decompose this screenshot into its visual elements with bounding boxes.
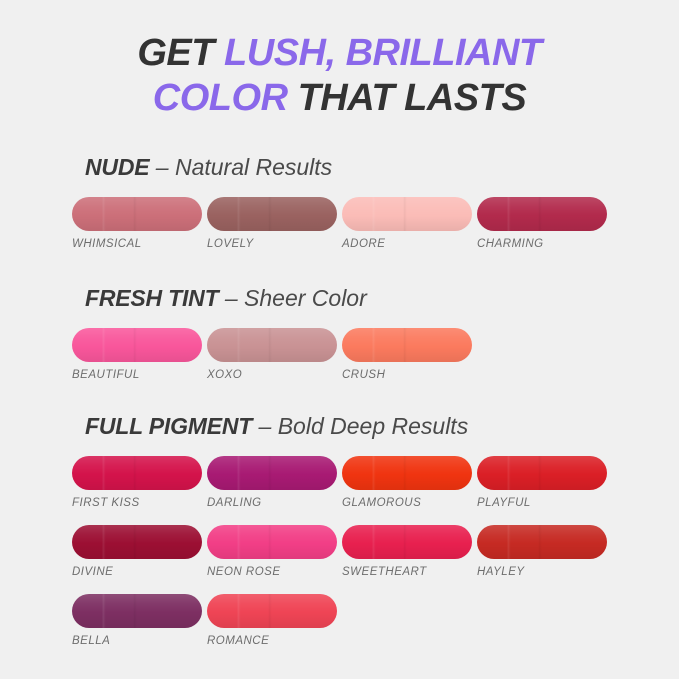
- section-full-pigment-separator: –: [252, 413, 278, 439]
- swatch-color-bar[interactable]: [477, 525, 607, 559]
- swatch-label: ROMANCE: [207, 635, 337, 648]
- headline-line-2: COLOR THAT LASTS: [0, 76, 679, 121]
- swatch-whimsical[interactable]: WHIMSICAL: [72, 197, 202, 251]
- swatch-beautiful[interactable]: BEAUTIFUL: [72, 328, 202, 382]
- section-nude-heading: NUDE – Natural Results: [0, 154, 679, 180]
- swatch-playful[interactable]: PLAYFUL: [477, 456, 607, 510]
- swatch-color-bar[interactable]: [342, 197, 472, 231]
- swatch-color-bar[interactable]: [72, 328, 202, 362]
- section-full-pigment: FULL PIGMENT – Bold Deep Results FIRST K…: [0, 413, 679, 648]
- section-full-pigment-title: FULL PIGMENT: [85, 413, 252, 439]
- swatch-darling[interactable]: DARLING: [207, 456, 337, 510]
- swatch-color-bar[interactable]: [72, 594, 202, 628]
- swatch-xoxo[interactable]: XOXO: [207, 328, 337, 382]
- swatch-label: ADORE: [342, 238, 472, 251]
- swatch-label: HAYLEY: [477, 566, 607, 579]
- section-fresh-tint-separator: –: [218, 285, 244, 311]
- swatch-color-bar[interactable]: [477, 456, 607, 490]
- section-fresh-tint-heading: FRESH TINT – Sheer Color: [0, 285, 679, 311]
- section-nude-subtitle: Natural Results: [175, 154, 332, 180]
- section-full-pigment-subtitle: Bold Deep Results: [278, 413, 469, 439]
- section-full-pigment-heading: FULL PIGMENT – Bold Deep Results: [0, 413, 679, 439]
- swatch-label: CRUSH: [342, 369, 472, 382]
- swatch-romance[interactable]: ROMANCE: [207, 594, 337, 648]
- swatch-label: NEON ROSE: [207, 566, 337, 579]
- swatch-row: FIRST KISSDARLINGGLAMOROUSPLAYFUL: [72, 456, 679, 510]
- swatch-color-bar[interactable]: [207, 594, 337, 628]
- swatch-neon-rose[interactable]: NEON ROSE: [207, 525, 337, 579]
- section-nude-separator: –: [149, 154, 175, 180]
- headline-that-lasts: THAT LASTS: [288, 77, 527, 119]
- swatch-color-bar[interactable]: [72, 456, 202, 490]
- swatch-row: BEAUTIFULXOXOCRUSH: [72, 328, 679, 382]
- swatch-first-kiss[interactable]: FIRST KISS: [72, 456, 202, 510]
- swatch-color-bar[interactable]: [207, 456, 337, 490]
- swatch-color-bar[interactable]: [207, 328, 337, 362]
- swatch-label: LOVELY: [207, 238, 337, 251]
- headline-lush-brilliant: LUSH, BRILLIANT: [224, 32, 542, 74]
- section-fresh-tint-subtitle: Sheer Color: [244, 285, 367, 311]
- section-full-pigment-swatch-grid: FIRST KISSDARLINGGLAMOROUSPLAYFULDIVINEN…: [0, 456, 679, 648]
- swatch-divine[interactable]: DIVINE: [72, 525, 202, 579]
- swatch-label: SWEETHEART: [342, 566, 472, 579]
- shade-chart-page: GET LUSH, BRILLIANT COLOR THAT LASTS NUD…: [0, 0, 679, 679]
- swatch-label: CHARMING: [477, 238, 607, 251]
- section-nude-swatch-grid: WHIMSICALLOVELYADORECHARMING: [0, 197, 679, 251]
- swatch-color-bar[interactable]: [477, 197, 607, 231]
- swatch-label: BELLA: [72, 635, 202, 648]
- swatch-label: FIRST KISS: [72, 497, 202, 510]
- swatch-charming[interactable]: CHARMING: [477, 197, 607, 251]
- swatch-row: WHIMSICALLOVELYADORECHARMING: [72, 197, 679, 251]
- swatch-label: DIVINE: [72, 566, 202, 579]
- section-fresh-tint: FRESH TINT – Sheer Color BEAUTIFULXOXOCR…: [0, 285, 679, 382]
- swatch-hayley[interactable]: HAYLEY: [477, 525, 607, 579]
- swatch-sweetheart[interactable]: SWEETHEART: [342, 525, 472, 579]
- swatch-color-bar[interactable]: [72, 525, 202, 559]
- swatch-lovely[interactable]: LOVELY: [207, 197, 337, 251]
- swatch-color-bar[interactable]: [342, 456, 472, 490]
- section-nude: NUDE – Natural Results WHIMSICALLOVELYAD…: [0, 154, 679, 251]
- swatch-color-bar[interactable]: [342, 328, 472, 362]
- swatch-color-bar[interactable]: [207, 197, 337, 231]
- swatch-label: DARLING: [207, 497, 337, 510]
- swatch-label: GLAMOROUS: [342, 497, 472, 510]
- page-title: GET LUSH, BRILLIANT COLOR THAT LASTS: [0, 31, 679, 121]
- swatch-crush[interactable]: CRUSH: [342, 328, 472, 382]
- swatch-color-bar[interactable]: [342, 525, 472, 559]
- section-fresh-tint-swatch-grid: BEAUTIFULXOXOCRUSH: [0, 328, 679, 382]
- swatch-color-bar[interactable]: [207, 525, 337, 559]
- swatch-row: BELLAROMANCE: [72, 594, 679, 648]
- swatch-color-bar[interactable]: [72, 197, 202, 231]
- swatch-label: XOXO: [207, 369, 337, 382]
- swatch-bella[interactable]: BELLA: [72, 594, 202, 648]
- swatch-label: WHIMSICAL: [72, 238, 202, 251]
- headline-get: GET: [137, 32, 224, 74]
- headline-line-1: GET LUSH, BRILLIANT: [0, 31, 679, 76]
- swatch-row: DIVINENEON ROSESWEETHEARTHAYLEY: [72, 525, 679, 579]
- swatch-label: BEAUTIFUL: [72, 369, 202, 382]
- section-nude-title: NUDE: [85, 154, 149, 180]
- headline-color: COLOR: [153, 77, 288, 119]
- swatch-label: PLAYFUL: [477, 497, 607, 510]
- swatch-adore[interactable]: ADORE: [342, 197, 472, 251]
- swatch-glamorous[interactable]: GLAMOROUS: [342, 456, 472, 510]
- section-fresh-tint-title: FRESH TINT: [85, 285, 218, 311]
